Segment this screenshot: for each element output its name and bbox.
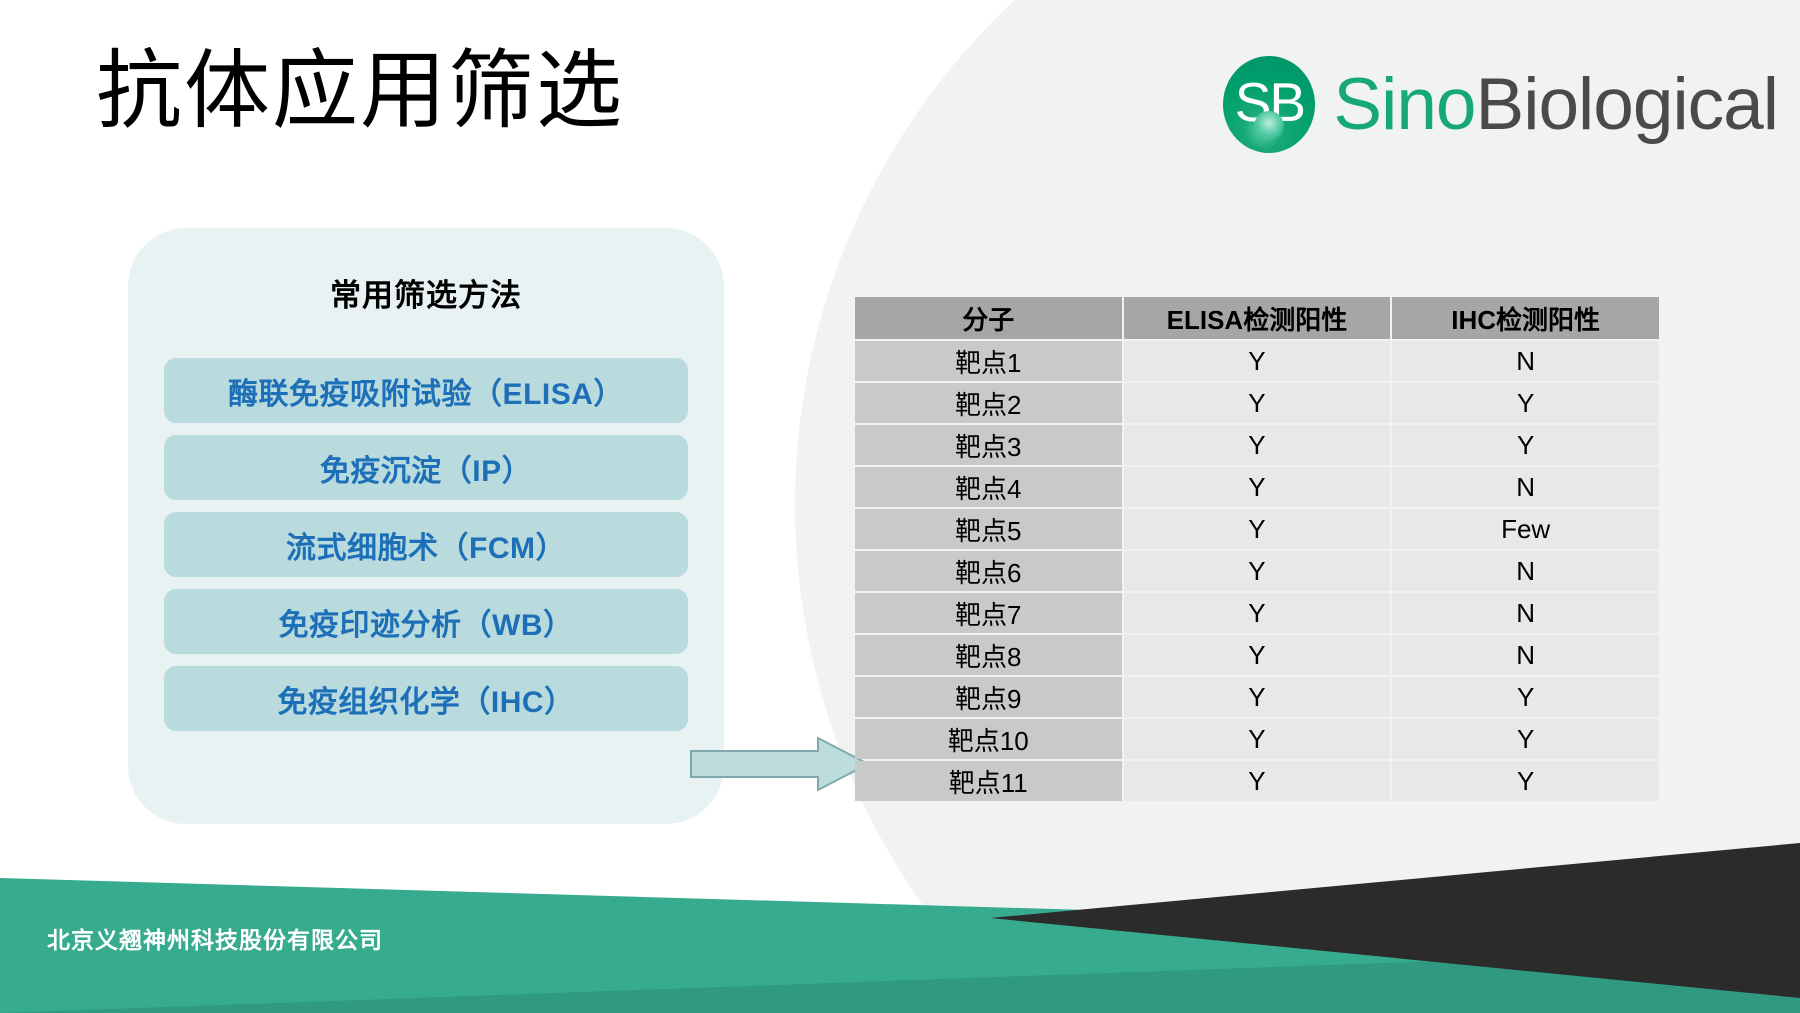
table-row: 靶点1 Y N (855, 341, 1659, 381)
method-item-wb[interactable]: 免疫印迹分析（WB） (164, 589, 688, 654)
method-item-ihc[interactable]: 免疫组织化学（IHC） (164, 666, 688, 731)
table-row: 靶点8 Y N (855, 635, 1659, 675)
method-item-fcm[interactable]: 流式细胞术（FCM） (164, 512, 688, 577)
slide-root: 抗体应用筛选 SB SinoBiological 常用筛选方法 酶联免疫吸附试验… (0, 0, 1800, 1013)
table-row: 靶点9 Y Y (855, 677, 1659, 717)
logo-mark-icon: SB (1223, 56, 1315, 153)
cell-elisa: Y (1124, 635, 1391, 675)
cell-molecule: 靶点10 (855, 719, 1122, 759)
page-title: 抗体应用筛选 (96, 42, 624, 141)
cell-elisa: Y (1124, 677, 1391, 717)
cell-elisa: Y (1124, 551, 1391, 591)
cell-ihc: N (1392, 341, 1659, 381)
cell-elisa: Y (1124, 593, 1391, 633)
cell-molecule: 靶点5 (855, 509, 1122, 549)
cell-ihc: N (1392, 593, 1659, 633)
table-row: 靶点3 Y Y (855, 425, 1659, 465)
footer-decoration (0, 783, 1800, 1013)
cell-molecule: 靶点3 (855, 425, 1122, 465)
cell-elisa: Y (1124, 341, 1391, 381)
method-list: 酶联免疫吸附试验（ELISA） 免疫沉淀（IP） 流式细胞术（FCM） 免疫印迹… (164, 358, 688, 731)
table-header: 分子 ELISA检测阳性 IHC检测阳性 (855, 297, 1659, 339)
cell-elisa: Y (1124, 383, 1391, 423)
table-row: 靶点7 Y N (855, 593, 1659, 633)
cell-molecule: 靶点6 (855, 551, 1122, 591)
logo-word-sino: Sino (1333, 64, 1475, 145)
table-header-ihc: IHC检测阳性 (1392, 297, 1659, 339)
cell-ihc: N (1392, 551, 1659, 591)
footer-company-name: 北京义翘神州科技股份有限公司 (47, 921, 383, 955)
logo-wordmark: SinoBiological (1333, 68, 1778, 141)
cell-ihc: Y (1392, 383, 1659, 423)
cell-molecule: 靶点1 (855, 341, 1122, 381)
cell-ihc: Few (1392, 509, 1659, 549)
method-item-elisa[interactable]: 酶联免疫吸附试验（ELISA） (164, 358, 688, 423)
table-header-molecule: 分子 (855, 297, 1122, 339)
cell-ihc: N (1392, 635, 1659, 675)
screening-methods-panel: 常用筛选方法 酶联免疫吸附试验（ELISA） 免疫沉淀（IP） 流式细胞术（FC… (128, 228, 724, 824)
table-header-row: 分子 ELISA检测阳性 IHC检测阳性 (855, 297, 1659, 339)
table-row: 靶点2 Y Y (855, 383, 1659, 423)
cell-molecule: 靶点8 (855, 635, 1122, 675)
detection-results-table: 分子 ELISA检测阳性 IHC检测阳性 靶点1 Y N 靶点2 Y Y 靶点3… (853, 295, 1661, 803)
method-item-ip[interactable]: 免疫沉淀（IP） (164, 435, 688, 500)
cell-ihc: N (1392, 467, 1659, 507)
cell-elisa: Y (1124, 509, 1391, 549)
table-row: 靶点6 Y N (855, 551, 1659, 591)
table-header-elisa: ELISA检测阳性 (1124, 297, 1391, 339)
logo-highlight-dot-icon (1254, 111, 1284, 141)
table-row: 靶点4 Y N (855, 467, 1659, 507)
cell-molecule: 靶点9 (855, 677, 1122, 717)
cell-ihc: Y (1392, 425, 1659, 465)
panel-heading: 常用筛选方法 (128, 270, 724, 315)
table-row: 靶点5 Y Few (855, 509, 1659, 549)
logo-word-biological: Biological (1476, 64, 1778, 145)
table-row: 靶点10 Y Y (855, 719, 1659, 759)
cell-molecule: 靶点7 (855, 593, 1122, 633)
cell-molecule: 靶点2 (855, 383, 1122, 423)
brand-logo: SB SinoBiological (1223, 56, 1778, 153)
cell-elisa: Y (1124, 467, 1391, 507)
cell-elisa: Y (1124, 719, 1391, 759)
table-body: 靶点1 Y N 靶点2 Y Y 靶点3 Y Y 靶点4 Y N 靶点5 Y (855, 341, 1659, 801)
cell-elisa: Y (1124, 425, 1391, 465)
cell-ihc: Y (1392, 719, 1659, 759)
cell-molecule: 靶点4 (855, 467, 1122, 507)
cell-ihc: Y (1392, 677, 1659, 717)
